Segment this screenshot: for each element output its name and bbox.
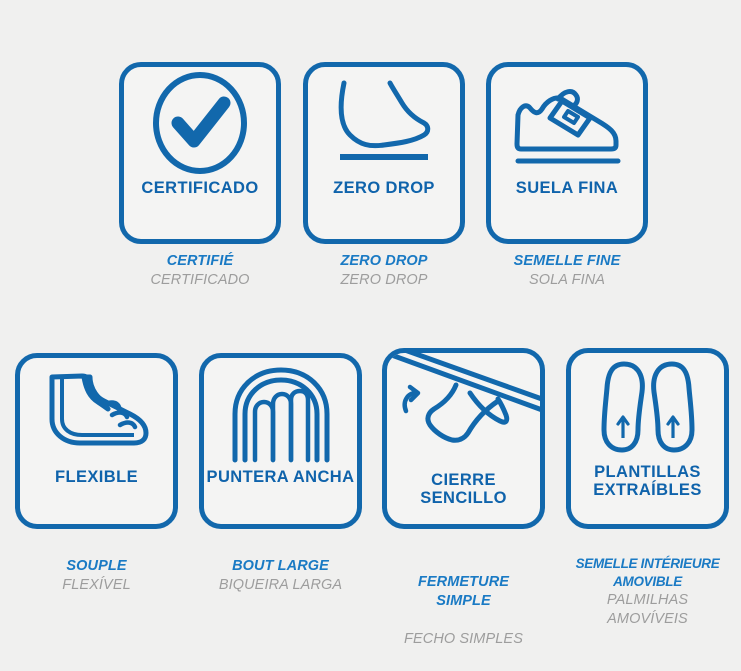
feature-captions-plantillas-extraibles: SEMELLE INTÉRIEURE AMOVIBLE PALMILHAS AM… bbox=[548, 555, 741, 629]
wide-toe-box-icon bbox=[204, 358, 357, 468]
feature-card-plantillas-extraibles[interactable]: PLANTILLAS EXTRAÍBLES bbox=[566, 348, 729, 529]
feature-suela-fina: SUELA FINA SEMELLE FINE SOLA FINA bbox=[486, 62, 648, 291]
feature-captions-puntera-ancha: BOUT LARGE BIQUEIRA LARGA bbox=[181, 557, 381, 596]
feature-card-cierre-sencillo[interactable]: CIERRE SENCILLO bbox=[382, 348, 545, 529]
feature-icons-panel: CERTIFICADO CERTIFIÉ CERTIFICADO ZERO DR… bbox=[0, 0, 741, 671]
feature-label-plantillas-extraibles: PLANTILLAS EXTRAÍBLES bbox=[571, 463, 724, 500]
feature-label-puntera-ancha: PUNTERA ANCHA bbox=[204, 468, 357, 486]
caption-pt-puntera-ancha: BIQUEIRA LARGA bbox=[181, 576, 381, 595]
feature-zero-drop: ZERO DROP ZERO DROP ZERO DROP bbox=[303, 62, 465, 291]
caption-fr-certificado: CERTIFIÉ bbox=[100, 252, 300, 271]
velcro-strap-icon bbox=[387, 353, 540, 471]
caption-fr-cierre-sencillo: FERMETURE SIMPLE bbox=[364, 573, 564, 612]
caption-pt-cierre-sencillo: FECHO SIMPLES bbox=[364, 630, 564, 649]
caption-pt-suela-fina: SOLA FINA bbox=[467, 271, 667, 290]
feature-card-puntera-ancha[interactable]: PUNTERA ANCHA bbox=[199, 353, 362, 529]
feature-captions-zero-drop: ZERO DROP ZERO DROP bbox=[284, 252, 484, 291]
caption-fr-puntera-ancha: BOUT LARGE bbox=[181, 557, 381, 576]
feature-card-suela-fina[interactable]: SUELA FINA bbox=[486, 62, 648, 244]
feature-captions-flexible: SOUPLE FLEXÍVEL bbox=[0, 557, 197, 596]
feature-puntera-ancha: PUNTERA ANCHA BOUT LARGE BIQUEIRA LARGA bbox=[199, 353, 362, 596]
caption-pt-flexible: FLEXÍVEL bbox=[0, 576, 197, 595]
caption-fr-suela-fina: SEMELLE FINE bbox=[467, 252, 667, 271]
feature-captions-certificado: CERTIFIÉ CERTIFICADO bbox=[100, 252, 300, 291]
feature-label-cierre-sencillo: CIERRE SENCILLO bbox=[387, 471, 540, 508]
feature-captions-suela-fina: SEMELLE FINE SOLA FINA bbox=[467, 252, 667, 291]
caption-pt-plantillas-extraibles: PALMILHAS AMOVÍVEIS bbox=[548, 591, 741, 630]
feature-cierre-sencillo: CIERRE SENCILLO FERMETURE SIMPLE FECHO S… bbox=[382, 348, 545, 667]
caption-pt-certificado: CERTIFICADO bbox=[100, 271, 300, 290]
feature-flexible: FLEXIBLE SOUPLE FLEXÍVEL bbox=[15, 353, 178, 596]
feature-captions-cierre-sencillo: FERMETURE SIMPLE FECHO SIMPLES bbox=[364, 555, 564, 667]
feature-card-flexible[interactable]: FLEXIBLE bbox=[15, 353, 178, 529]
feature-card-zero-drop[interactable]: ZERO DROP bbox=[303, 62, 465, 244]
removable-insoles-icon bbox=[571, 353, 724, 463]
feature-certificado: CERTIFICADO CERTIFIÉ CERTIFICADO bbox=[119, 62, 281, 291]
feature-card-certificado[interactable]: CERTIFICADO bbox=[119, 62, 281, 244]
caption-fr-plantillas-extraibles: SEMELLE INTÉRIEURE AMOVIBLE bbox=[548, 555, 741, 591]
feature-label-flexible: FLEXIBLE bbox=[20, 468, 173, 486]
caption-fr-zero-drop: ZERO DROP bbox=[284, 252, 484, 271]
feature-plantillas-extraibles: PLANTILLAS EXTRAÍBLES SEMELLE INTÉRIEURE… bbox=[566, 348, 729, 629]
check-circle-icon bbox=[124, 67, 276, 179]
feature-label-zero-drop: ZERO DROP bbox=[308, 179, 460, 197]
feature-label-certificado: CERTIFICADO bbox=[124, 179, 276, 197]
caption-pt-zero-drop: ZERO DROP bbox=[284, 271, 484, 290]
feature-label-suela-fina: SUELA FINA bbox=[491, 179, 643, 197]
sneaker-thin-sole-icon bbox=[491, 67, 643, 179]
flexible-shoe-icon bbox=[20, 358, 173, 468]
foot-flat-ground-icon bbox=[308, 67, 460, 179]
caption-fr-flexible: SOUPLE bbox=[0, 557, 197, 576]
